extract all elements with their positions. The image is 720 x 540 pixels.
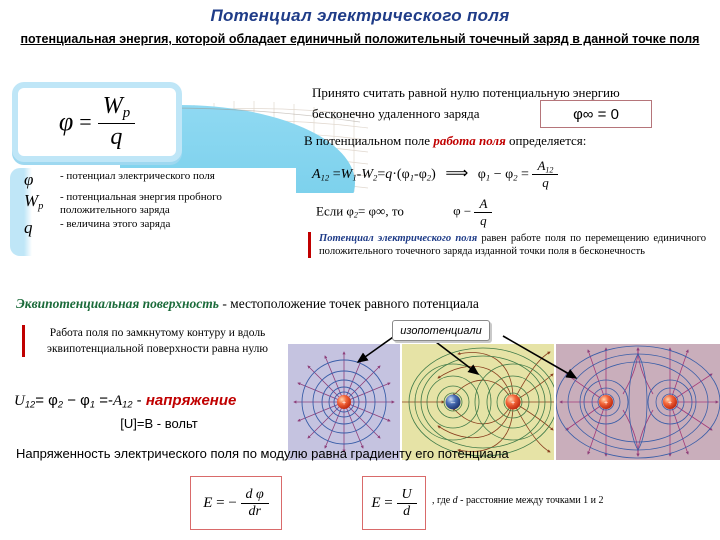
list-item: φ - потенциал электрического поля <box>18 170 298 190</box>
formula-equals: = <box>73 109 97 135</box>
e-field-formula-box-1: E = − d φ dr <box>190 476 282 530</box>
if-word: Если <box>316 203 343 218</box>
u-phi1-sub: 1 <box>90 400 95 410</box>
izopotenciali-callout: изопотенциали <box>392 320 490 341</box>
equipotential-rest: - местоположение точек равного потенциал… <box>219 296 479 311</box>
eq-right-num-sub: 12 <box>545 165 553 174</box>
if-equation: Если φ2= φ∞, то φ − A q <box>316 196 716 229</box>
e-field-formula-box-2: E = U d <box>362 476 426 530</box>
d-note-suffix: - расстояние между точками 1 и 2 <box>458 495 604 506</box>
eq-right-num: A12 <box>532 158 558 174</box>
work-of-field-emphasis: работа поля <box>433 133 505 148</box>
u-phi1: φ <box>80 392 90 409</box>
voltage-unit-text: [U]=В - вольт <box>120 416 197 431</box>
e2-den: d <box>397 503 417 520</box>
formula-denominator: q <box>98 123 135 151</box>
formula-numerator-subscript: p <box>123 106 130 122</box>
eq-r-phi1: φ <box>478 167 486 182</box>
eq-r-phi1-sub: 1 <box>486 172 490 182</box>
u-subscript: 12 <box>25 400 35 410</box>
voltage-equation: U12= φ2 − φ1 =-A12 - напряжение <box>14 392 304 410</box>
u-equals-2: =- <box>99 392 113 409</box>
legend-item-label: - величина этого заряда <box>60 218 170 231</box>
eq-r-minus: − <box>494 167 502 182</box>
e1-fraction: d φ dr <box>241 487 269 520</box>
legend-symbol-subscript: p <box>38 201 43 212</box>
u-phi2-sub: 2 <box>58 400 63 410</box>
list-item: q - величина этого заряда <box>18 218 298 238</box>
potential-formula-card: φ = Wp q <box>12 82 182 162</box>
page-subtitle: потенциальная энергия, которой обладает … <box>18 31 702 47</box>
work-note-prefix: В потенциальном поле <box>304 133 433 148</box>
legend-symbol: q <box>18 218 60 238</box>
u-A: A <box>113 393 122 409</box>
eq-paren-close: ) <box>431 167 436 182</box>
formula-numerator-symbol: W <box>103 93 123 119</box>
legend-symbol: Wp <box>18 191 60 212</box>
if-result-fraction: A q <box>474 196 492 229</box>
e2-symbol: E <box>371 494 380 510</box>
distance-note: , где d - расстояние между точками 1 и 2 <box>432 495 712 506</box>
eq-r-equals: = <box>521 167 529 182</box>
work-note-suffix: определяется: <box>506 133 587 148</box>
if-result-minus: − <box>464 203 471 218</box>
voltage-term: напряжение <box>146 392 237 409</box>
callout-arrows <box>288 330 720 460</box>
list-item: Wp - потенциальная энергия пробного поло… <box>18 191 298 217</box>
eq-right-fraction: A12 q <box>532 158 558 191</box>
u-A-sub: 12 <box>122 400 132 410</box>
e1-sign: − <box>228 494 236 510</box>
eq-right-den: q <box>532 174 558 191</box>
eq-r-phi2: φ <box>505 167 513 182</box>
legend-item-label: - потенциал электрического поля <box>60 170 215 183</box>
potential-formula: φ = Wp q <box>18 88 176 156</box>
work-of-field-note: В потенциальном поле работа поля определ… <box>304 133 704 149</box>
eq-phi1: φ <box>402 167 410 182</box>
e2-equals: = <box>384 494 392 510</box>
eq-r-phi2-sub: 2 <box>513 172 517 182</box>
eq-equals-1: = <box>333 167 341 182</box>
formula-fraction: Wp q <box>98 93 135 150</box>
equipotential-emphasis: Эквипотенциальная поверхность <box>16 296 219 311</box>
e1-den: dr <box>241 503 269 520</box>
u-dash: - <box>133 392 146 409</box>
definition-block: Потенциал электрического поля равен рабо… <box>308 232 706 258</box>
eq-A-sub: 12 <box>321 172 330 182</box>
closed-contour-note: Работа поля по замкнутому контуру и вдол… <box>22 325 280 357</box>
slide-root: Потенциал электрического поля потенциаль… <box>0 0 720 540</box>
e2-fraction: U d <box>397 487 417 520</box>
e-formula-1: E = − d φ dr <box>203 487 269 520</box>
equipotential-heading: Эквипотенциальная поверхность - местопол… <box>16 296 716 312</box>
gradient-statement: Напряженность электрического поля по мод… <box>16 446 716 461</box>
e2-num: U <box>397 487 417 503</box>
legend-symbol-text: W <box>24 191 38 210</box>
e1-num: d φ <box>241 487 269 503</box>
legend-symbol: φ <box>18 170 60 190</box>
definition-text: Потенциал электрического поля равен рабо… <box>319 232 706 258</box>
legend-item-label: - потенциальная энергия пробного положит… <box>60 191 298 217</box>
if-result-num: A <box>474 196 492 212</box>
legend-symbol-text: q <box>24 218 33 237</box>
e1-symbol: E <box>203 494 212 510</box>
then-word: , то <box>385 203 404 218</box>
phi-infinity-value: φ∞ = 0 <box>573 106 619 123</box>
u-phi2: φ <box>48 392 58 409</box>
legend-symbol-text: φ <box>24 170 33 189</box>
eq-W1: W <box>341 167 353 182</box>
eq-W2: W <box>361 167 373 182</box>
formula-numerator: Wp <box>98 93 135 122</box>
phi-infinity-box: φ∞ = 0 <box>540 100 652 128</box>
callout-label: изопотенциали <box>400 325 481 337</box>
definition-emphasis: Потенциал электрического поля <box>319 233 477 244</box>
d-note-prefix: , где <box>432 495 453 506</box>
implies-arrow-icon: ⟹ <box>439 165 474 182</box>
if-phi-infinity: φ∞ <box>369 203 386 218</box>
if-result-phi: φ <box>407 203 461 218</box>
u-minus: − <box>67 392 76 409</box>
if-phi2: φ <box>346 203 354 218</box>
e-formula-2: E = U d <box>371 487 416 520</box>
e1-equals: = <box>216 494 224 510</box>
u-symbol: U <box>14 393 25 409</box>
if-result-den: q <box>474 212 492 229</box>
formula-phi: φ <box>59 107 73 137</box>
work-equation: A12 =W1-W2=q·(φ1-φ2) ⟹ φ1 − φ2 = A12 q <box>312 158 712 191</box>
u-equals-1: = <box>35 392 44 409</box>
if-equals: = <box>358 203 365 218</box>
eq-A: A <box>312 167 321 182</box>
eq-phi2: φ <box>419 167 427 182</box>
page-title: Потенциал электрического поля <box>0 6 720 26</box>
voltage-unit: [U]=В - вольт <box>14 416 304 431</box>
legend-list: φ - потенциал электрического поля Wp - п… <box>18 170 298 239</box>
